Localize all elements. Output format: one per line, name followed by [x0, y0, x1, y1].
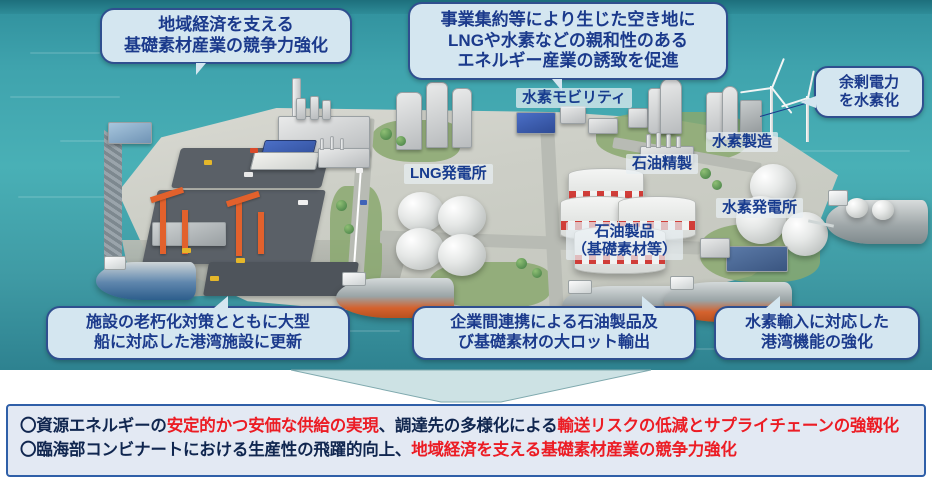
- tree: [380, 128, 392, 140]
- callout-energy-industry-attraction[interactable]: 事業集約等により生じた空き地に LNGや水素などの親和性のある エネルギー産業の…: [408, 2, 728, 80]
- callout-regional-economy[interactable]: 地域経済を支える 基礎素材産業の競争力強化: [100, 8, 352, 64]
- tree: [700, 168, 711, 179]
- ship-cargo-sphere: [846, 198, 868, 218]
- process-column: [322, 100, 331, 120]
- tree: [336, 200, 347, 211]
- wind-turbine-blade: [771, 58, 785, 88]
- ship-cargo-sphere: [872, 200, 894, 220]
- tree: [344, 224, 354, 234]
- lng-spherical-tank: [398, 192, 444, 232]
- vehicle: [298, 200, 308, 205]
- summary-line-1: 〇資源エネルギーの安定的かつ安価な供給の実現、調達先の多様化による輸送リスクの低…: [20, 415, 912, 439]
- callout-tail-hydrogen-import: [766, 296, 780, 308]
- water-ripple: [30, 52, 100, 54]
- ship-bridge-house: [670, 276, 694, 290]
- label-lng-power-plant: LNG発電所: [404, 164, 493, 184]
- label-hydrogen-mobility: 水素モビリティ: [516, 88, 632, 108]
- smokestack: [340, 138, 344, 150]
- smokestack: [676, 136, 681, 148]
- smokestack: [666, 134, 671, 148]
- callout-tail-surplus-power: [800, 96, 816, 108]
- smokestack: [330, 136, 334, 150]
- callout-surplus-power-to-hydrogen[interactable]: 余剰電力 を水素化: [814, 66, 924, 118]
- vehicle: [356, 168, 363, 173]
- summary-l2-seg-1: 〇臨海部コンビナートにおける生産性の飛躍的向上、: [20, 441, 411, 459]
- station-canopy: [628, 108, 648, 128]
- callout-tail-port-facility: [214, 296, 228, 308]
- summary-line-2: 〇臨海部コンビナートにおける生産性の飛躍的向上、地域経済を支える基礎素材産業の競…: [20, 439, 912, 463]
- tree: [712, 180, 722, 190]
- tree: [396, 136, 406, 146]
- label-hydrogen-production: 水素製造: [706, 132, 778, 152]
- ship-bridge-house: [104, 256, 126, 270]
- wind-turbine-blade: [740, 87, 772, 93]
- gantry-crane: [160, 196, 166, 254]
- vehicle: [204, 160, 212, 165]
- vehicle: [210, 276, 219, 281]
- down-funnel-arrow: [291, 368, 651, 404]
- power-plant-annex: [700, 238, 730, 258]
- gantry-crane: [258, 212, 264, 254]
- label-oil-refining: 石油精製: [626, 154, 698, 174]
- water-ripple: [800, 150, 910, 152]
- water-ripple: [10, 96, 120, 98]
- callout-tail-regional-economy: [196, 63, 206, 75]
- callout-tail-energy-industry: [552, 79, 562, 91]
- vehicle: [360, 200, 367, 205]
- summary-l1-seg-3: 、調達先の多様化による: [379, 417, 558, 435]
- gantry-crane: [236, 200, 242, 256]
- callout-port-facility-renewal[interactable]: 施設の老朽化対策とともに大型 船に対応した港湾施設に更新: [46, 306, 350, 360]
- callout-tail-petroleum-export: [642, 296, 656, 308]
- vehicle: [236, 258, 245, 263]
- process-column: [296, 98, 306, 120]
- label-petroleum-products: 石油製品 （基礎素材等）: [566, 222, 683, 260]
- label-hydrogen-power-plant: 水素発電所: [716, 198, 803, 218]
- solar-panel-array: [516, 112, 556, 134]
- hydrogen-station: [588, 118, 618, 134]
- vehicle: [244, 172, 253, 177]
- summary-l1-seg-1: 〇資源エネルギーの: [20, 417, 167, 435]
- mobility-station: [560, 106, 586, 124]
- port-terminal-building: [108, 122, 152, 144]
- ship-bridge-house: [568, 280, 592, 294]
- ship-bridge-house: [342, 272, 366, 286]
- infographic-page: 水素モビリティ LNG発電所 水素製造 石油精製 石油製品 （基礎素材等） 水素…: [0, 0, 932, 483]
- ship-bridge-house: [828, 190, 848, 206]
- summary-l1-seg-4: 輸送リスクの低減とサプライチェーンの強靱化: [557, 417, 898, 435]
- vehicle: [182, 248, 191, 253]
- office-tower: [660, 78, 682, 134]
- smokestack: [320, 138, 324, 150]
- factory-shed: [250, 152, 320, 170]
- lng-storage-column: [452, 88, 472, 148]
- tree: [516, 258, 527, 269]
- vehicle: [250, 148, 258, 153]
- factory-shed: [318, 148, 370, 168]
- funnel-shape: [291, 370, 651, 402]
- summary-l1-seg-2: 安定的かつ安価な供給の実現: [167, 417, 379, 435]
- lng-spherical-tank: [438, 234, 486, 276]
- hydrogen-sphere-tank: [782, 212, 828, 256]
- smokestack: [646, 134, 651, 148]
- smokestack: [656, 132, 661, 148]
- summary-box: 〇資源エネルギーの安定的かつ安価な供給の実現、調達先の多様化による輸送リスクの低…: [6, 404, 926, 477]
- coal-storage-yard: [203, 262, 359, 296]
- lng-spherical-tank: [396, 228, 444, 270]
- lng-storage-column: [426, 82, 448, 148]
- process-column: [310, 96, 319, 120]
- callout-petroleum-large-lot-export[interactable]: 企業間連携による石油製品及 び基礎素材の大ロット輸出: [412, 306, 696, 360]
- tree: [532, 268, 542, 278]
- power-plant-building: [726, 246, 788, 272]
- lng-spherical-tank: [438, 196, 486, 238]
- summary-l2-seg-2: 地域経済を支える基礎素材産業の競争力強化: [411, 441, 737, 459]
- callout-hydrogen-import-port[interactable]: 水素輸入に対応した 港湾機能の強化: [714, 306, 920, 360]
